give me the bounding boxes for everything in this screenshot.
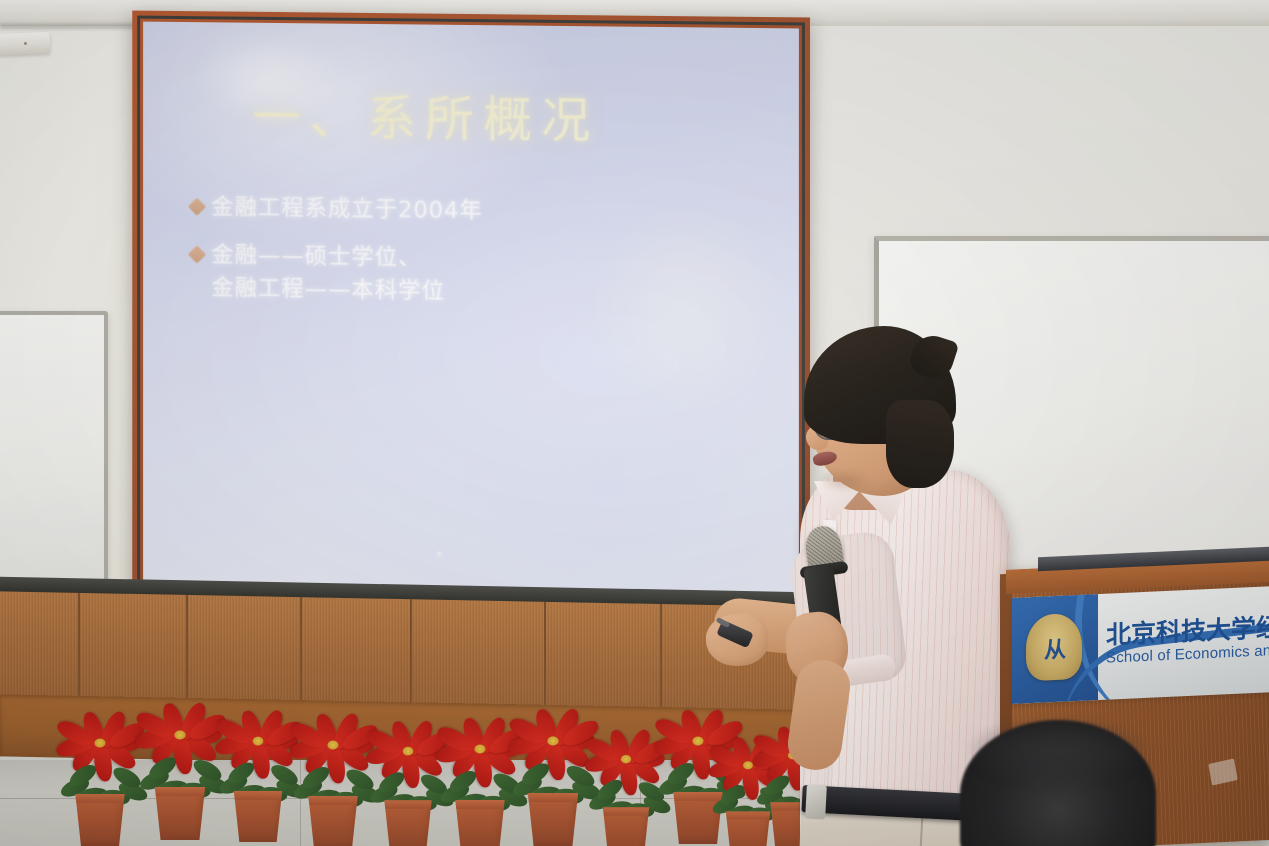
- hair-sideburn: [886, 400, 954, 488]
- flower-center: [174, 730, 185, 739]
- emblem-glyph: 从: [1044, 632, 1064, 665]
- diamond-bullet-icon: [188, 198, 206, 216]
- audience-hair-fuzz: [966, 716, 1150, 786]
- lectern-signage-plate: 从 北京科技大学经济管理学院 School of Economics and M…: [1012, 586, 1269, 704]
- flower-pot: [151, 787, 208, 840]
- university-emblem-icon: 从: [1026, 613, 1082, 682]
- wall-speaker-icon: [0, 32, 50, 55]
- list-item: 金融——硕士学位、 金融工程——本科学位: [191, 239, 751, 313]
- slide-bullet-list: 金融工程系成立于2004年 金融——硕士学位、 金融工程——本科学位: [191, 191, 751, 328]
- bullet-text: 金融工程系成立于2004年: [211, 191, 482, 228]
- bullet-text: 金融——硕士学位、 金融工程——本科学位: [211, 239, 445, 308]
- slide-title: 一、系所概况: [252, 78, 599, 153]
- flower-center: [475, 745, 486, 754]
- flower-pot: [381, 800, 435, 846]
- flower-pot: [231, 791, 286, 842]
- diamond-bullet-icon: [188, 245, 206, 263]
- flower-center: [253, 737, 264, 746]
- flower-pot: [452, 800, 508, 846]
- flower-center: [328, 741, 339, 750]
- whiteboard-left: [0, 311, 108, 601]
- belt-buckle: [805, 784, 827, 819]
- flower-center: [95, 739, 106, 748]
- chin-shadow: [818, 470, 870, 492]
- flower-pot: [524, 793, 581, 846]
- screen-speck: [436, 551, 443, 558]
- flower-center: [621, 755, 631, 763]
- flower-pot: [305, 796, 361, 846]
- flower-center: [403, 747, 414, 756]
- flower-center: [547, 736, 558, 745]
- list-item: 金融工程系成立于2004年: [191, 191, 751, 232]
- flower-pot: [72, 794, 128, 846]
- presentation-photo-scene: 一、系所概况 金融工程系成立于2004年 金融——硕士学位、 金融工程——本科学…: [0, 0, 1269, 846]
- flower-pot: [600, 807, 653, 846]
